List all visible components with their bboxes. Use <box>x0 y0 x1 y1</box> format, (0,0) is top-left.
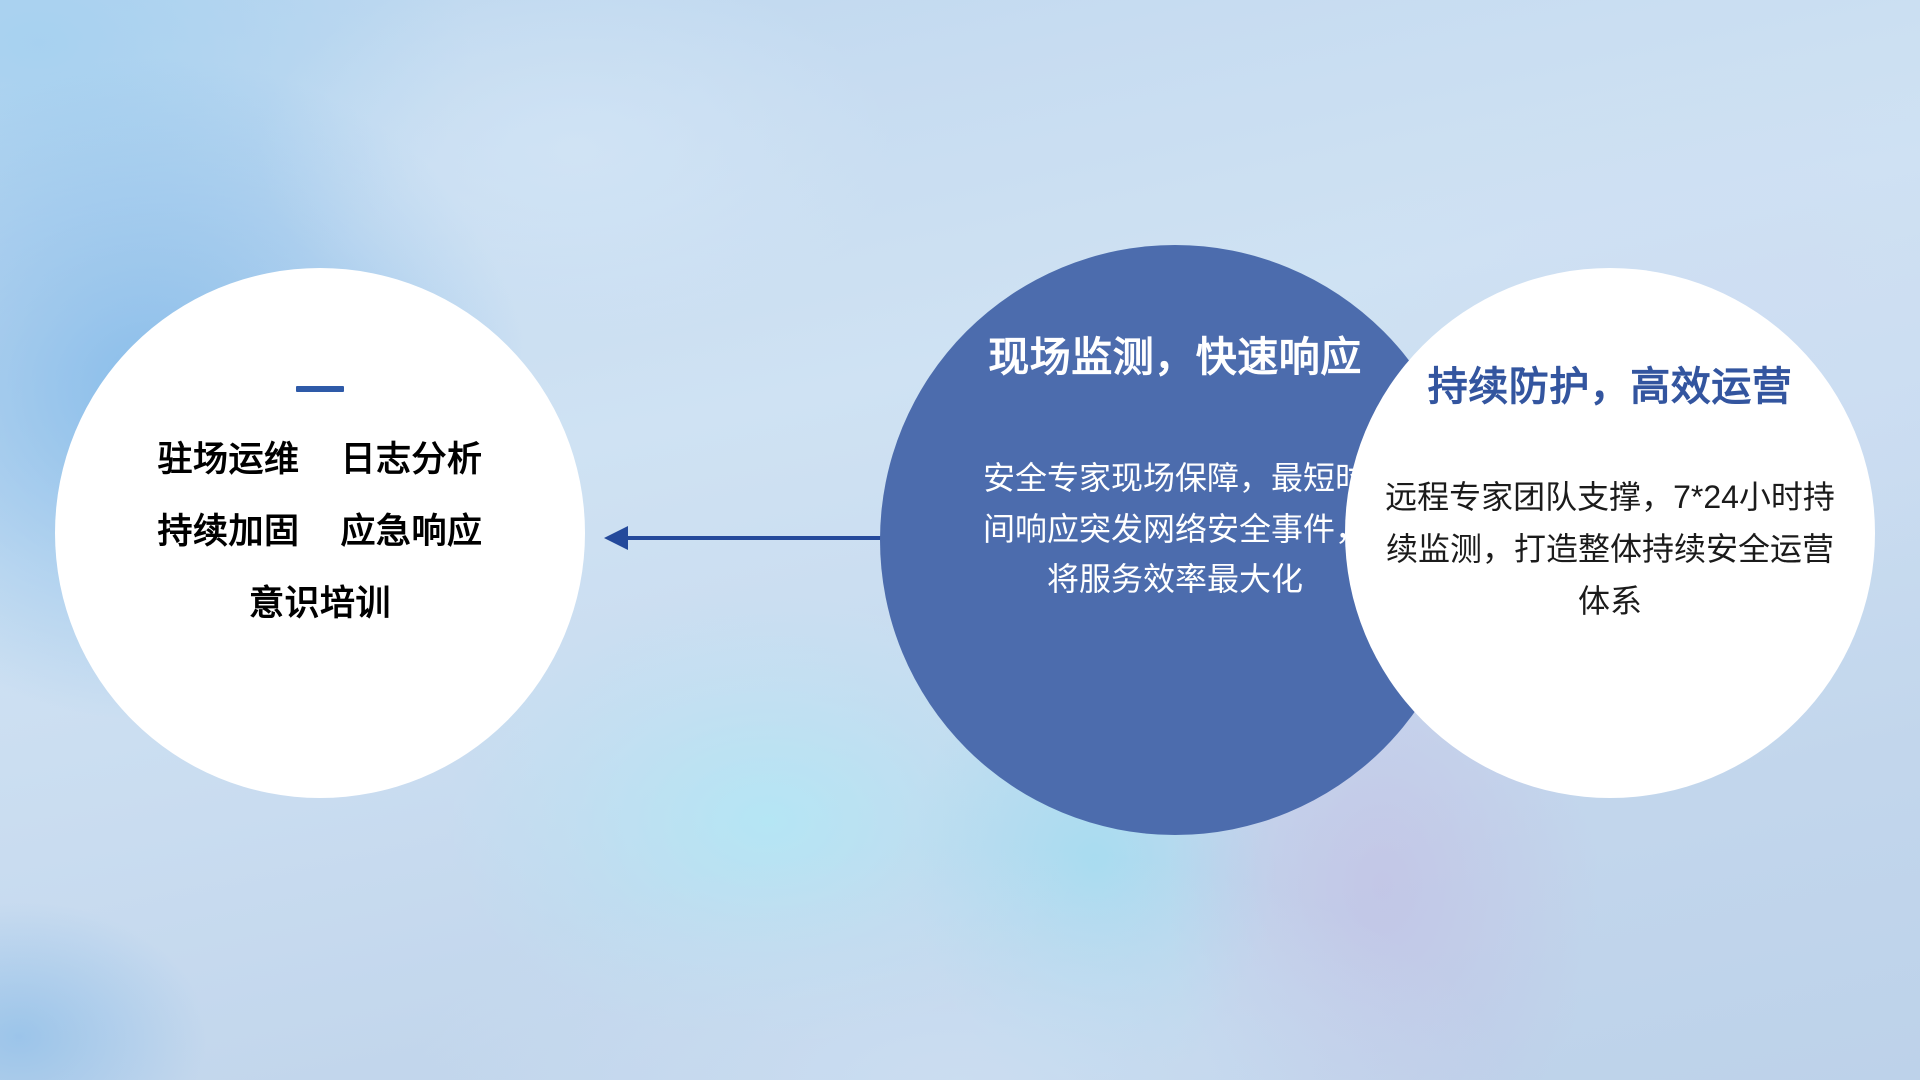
capability-tag-line-2: 持续加固 应急响应 <box>158 514 483 549</box>
arrow-left-icon <box>600 508 890 568</box>
capability-tag-line-1: 驻场运维 日志分析 <box>158 442 483 477</box>
onsite-description: 安全专家现场保障，最短时间响应突发网络安全事件，将服务效率最大化 <box>980 453 1370 605</box>
onsite-title: 现场监测，快速响应 <box>988 323 1362 383</box>
capability-circle-left: 驻场运维 日志分析 持续加固 应急响应 意识培训 <box>55 268 585 798</box>
right-circle-content: 持续防护，高效运营 远程专家团队支撑，7*24小时持续监测，打造整体持续安全运营… <box>1345 268 1875 627</box>
feature-circle-continuous: 持续防护，高效运营 远程专家团队支撑，7*24小时持续监测，打造整体持续安全运营… <box>1345 268 1875 798</box>
continuous-title: 持续防护，高效运营 <box>1428 354 1793 412</box>
left-circle-content: 驻场运维 日志分析 持续加固 应急响应 意识培训 <box>55 268 585 621</box>
dash-divider-icon <box>296 386 344 392</box>
capability-tag-line-3: 意识培训 <box>249 586 391 621</box>
slide-canvas: 驻场运维 日志分析 持续加固 应急响应 意识培训 现场监测，快速响应 安全专家现… <box>0 0 1920 1080</box>
continuous-description: 远程专家团队支撑，7*24小时持续监测，打造整体持续安全运营体系 <box>1385 472 1835 627</box>
